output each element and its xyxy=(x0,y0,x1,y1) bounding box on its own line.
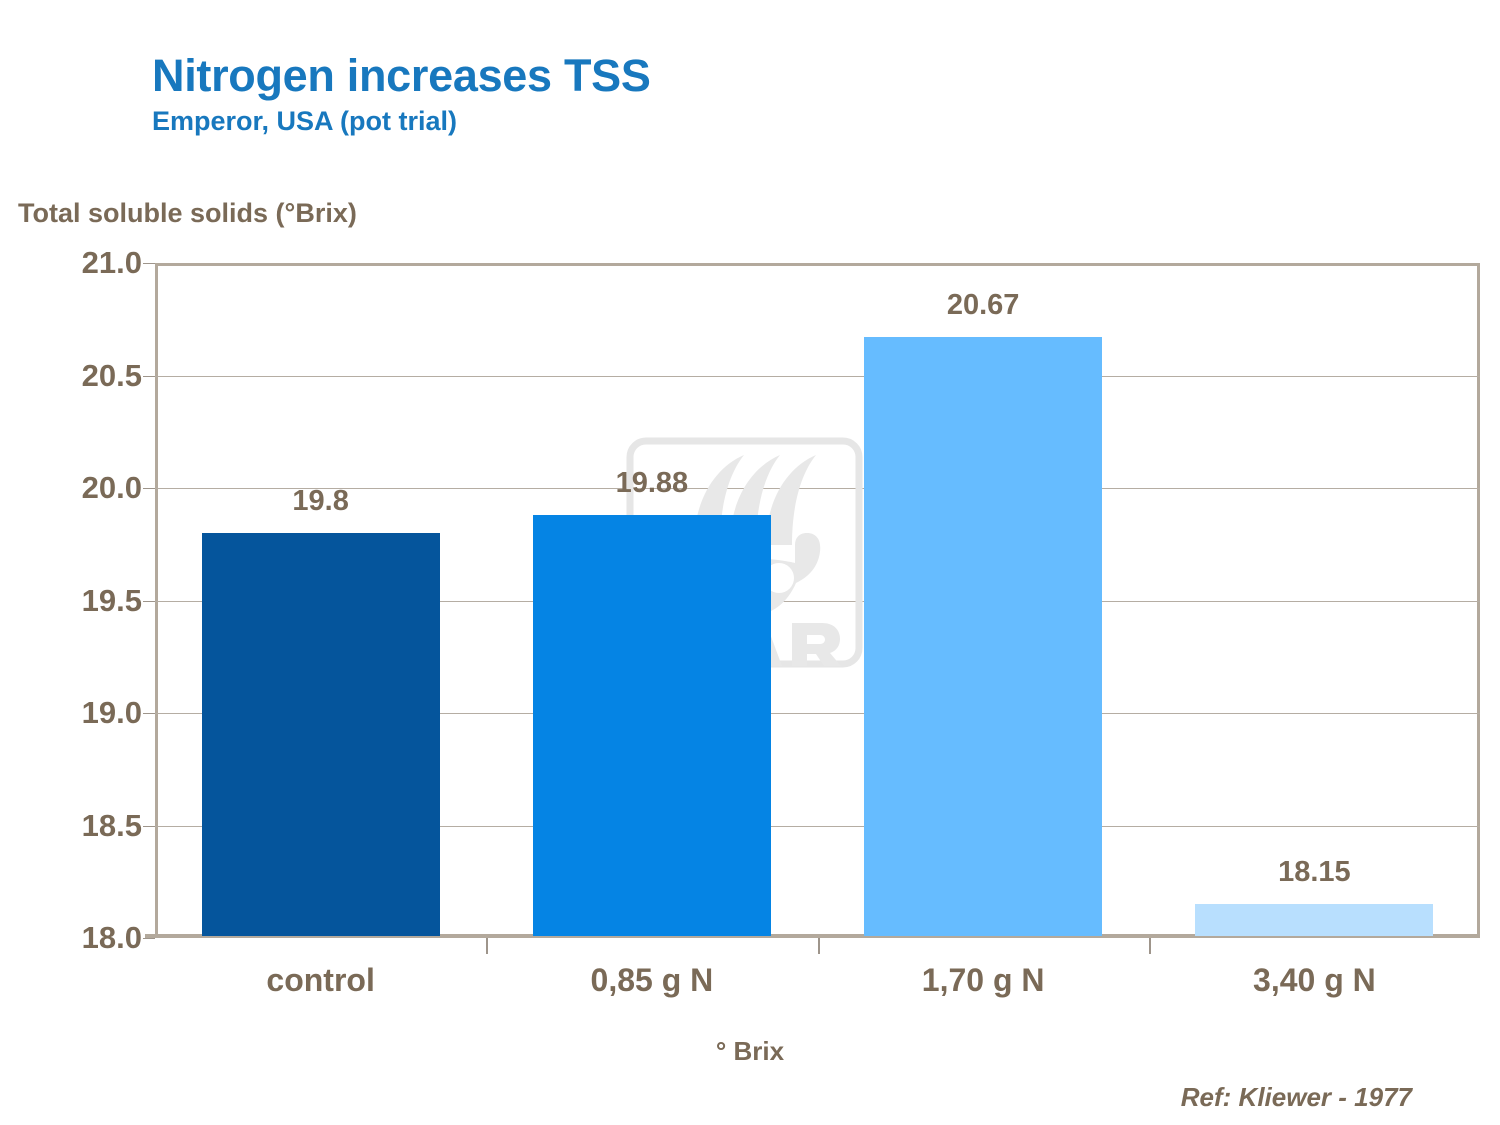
bar-2[interactable] xyxy=(533,515,771,936)
y-axis-tick-label: 18.0 xyxy=(82,920,142,956)
gridline xyxy=(155,376,1480,377)
x-axis-tick-label: 1,70 g N xyxy=(922,962,1045,999)
x-tick xyxy=(486,938,488,954)
x-axis-title: ° Brix xyxy=(0,1036,1500,1067)
y-axis-tick-label: 21.0 xyxy=(82,245,142,281)
bar-value-label: 18.15 xyxy=(1278,856,1351,889)
page-title: Nitrogen increases TSS xyxy=(152,52,1152,100)
x-axis-tick-label: 3,40 g N xyxy=(1253,962,1376,999)
y-axis-title: Total soluble solids (°Brix) xyxy=(18,198,357,229)
reference-note: Ref: Kliewer - 1977 xyxy=(1181,1082,1412,1113)
x-axis-tick-label: control xyxy=(266,962,374,999)
y-axis-tick-label: 20.0 xyxy=(82,470,142,506)
x-tick xyxy=(1149,938,1151,954)
y-axis-tick-label: 19.5 xyxy=(82,583,142,619)
y-tick xyxy=(143,601,155,602)
y-axis-tick-label: 19.0 xyxy=(82,695,142,731)
chart-plot-area xyxy=(155,263,1480,938)
y-tick xyxy=(143,826,155,827)
x-tick xyxy=(818,938,820,954)
bar-value-label: 20.67 xyxy=(947,289,1020,322)
x-axis-tick-label: 0,85 g N xyxy=(591,962,714,999)
y-axis-tick-label: 20.5 xyxy=(82,358,142,394)
plot-border-top xyxy=(155,263,1480,266)
bar-4[interactable] xyxy=(1195,904,1433,936)
bar-1[interactable] xyxy=(202,533,440,936)
bar-value-label: 19.88 xyxy=(616,467,689,500)
gridline xyxy=(155,488,1480,489)
page-subtitle: Emperor, USA (pot trial) xyxy=(152,106,1152,137)
y-tick xyxy=(143,376,155,377)
bar-3[interactable] xyxy=(864,337,1102,936)
y-tick xyxy=(143,938,155,939)
y-tick xyxy=(143,263,155,264)
y-tick xyxy=(143,713,155,714)
bar-value-label: 19.8 xyxy=(292,485,348,518)
y-axis-tick-label: 18.5 xyxy=(82,808,142,844)
title-block: Nitrogen increases TSS Emperor, USA (pot… xyxy=(152,52,1152,137)
y-tick xyxy=(143,488,155,489)
